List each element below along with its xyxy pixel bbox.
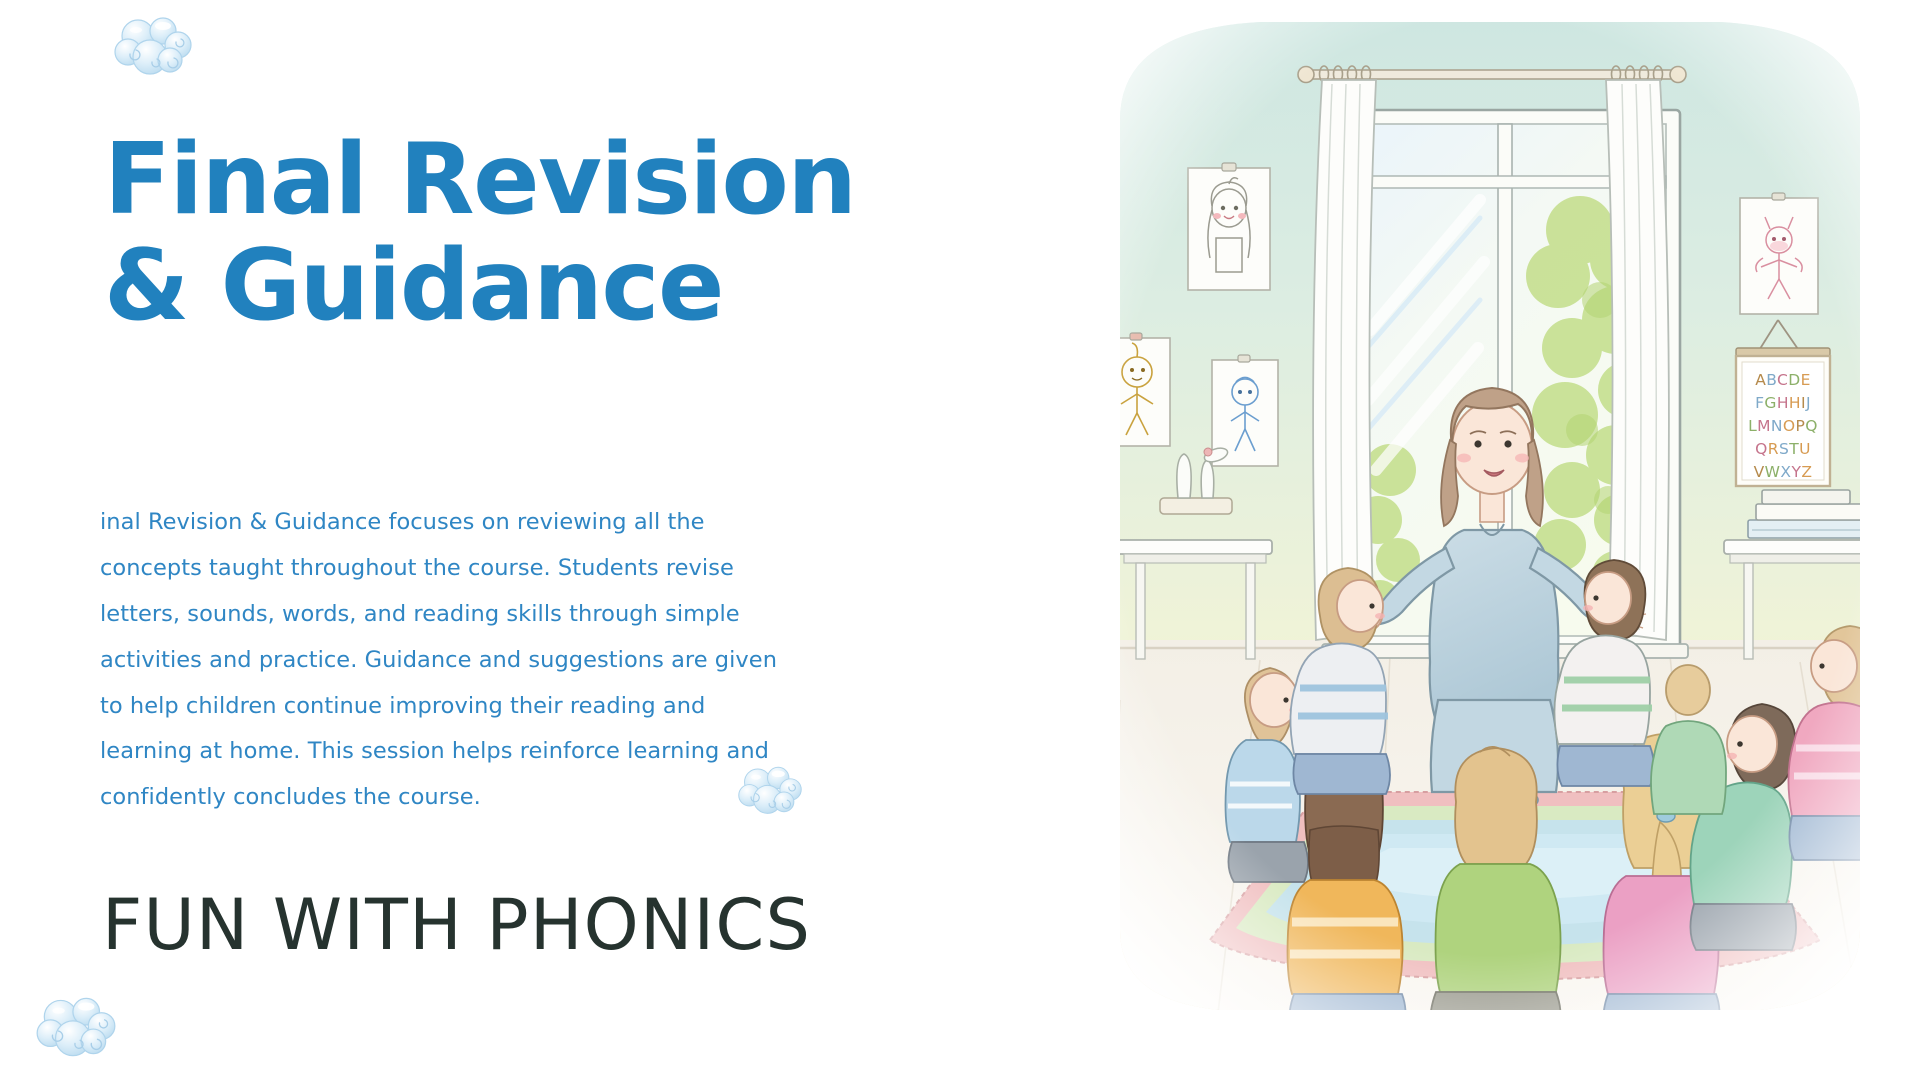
body-paragraph: inal Revision & Guidance focuses on revi… bbox=[100, 500, 790, 821]
classroom-illustration: ABCDE FGHHIJ LMNOPQ QRSTU VWXYZ bbox=[1060, 0, 1920, 1080]
page-title: Final Revision & Guidance bbox=[104, 128, 934, 340]
left-content-column: Final Revision & Guidance inal Revision … bbox=[0, 0, 1060, 1080]
classroom-scene: ABCDE FGHHIJ LMNOPQ QRSTU VWXYZ bbox=[1060, 0, 1920, 1080]
course-name: FUN WITH PHONICS bbox=[102, 890, 811, 960]
classroom-illustration-svg: ABCDE FGHHIJ LMNOPQ QRSTU VWXYZ bbox=[1060, 0, 1920, 1080]
cloud-icon bbox=[30, 992, 122, 1060]
slide-root: Final Revision & Guidance inal Revision … bbox=[0, 0, 1920, 1080]
cloud-icon bbox=[108, 12, 198, 78]
